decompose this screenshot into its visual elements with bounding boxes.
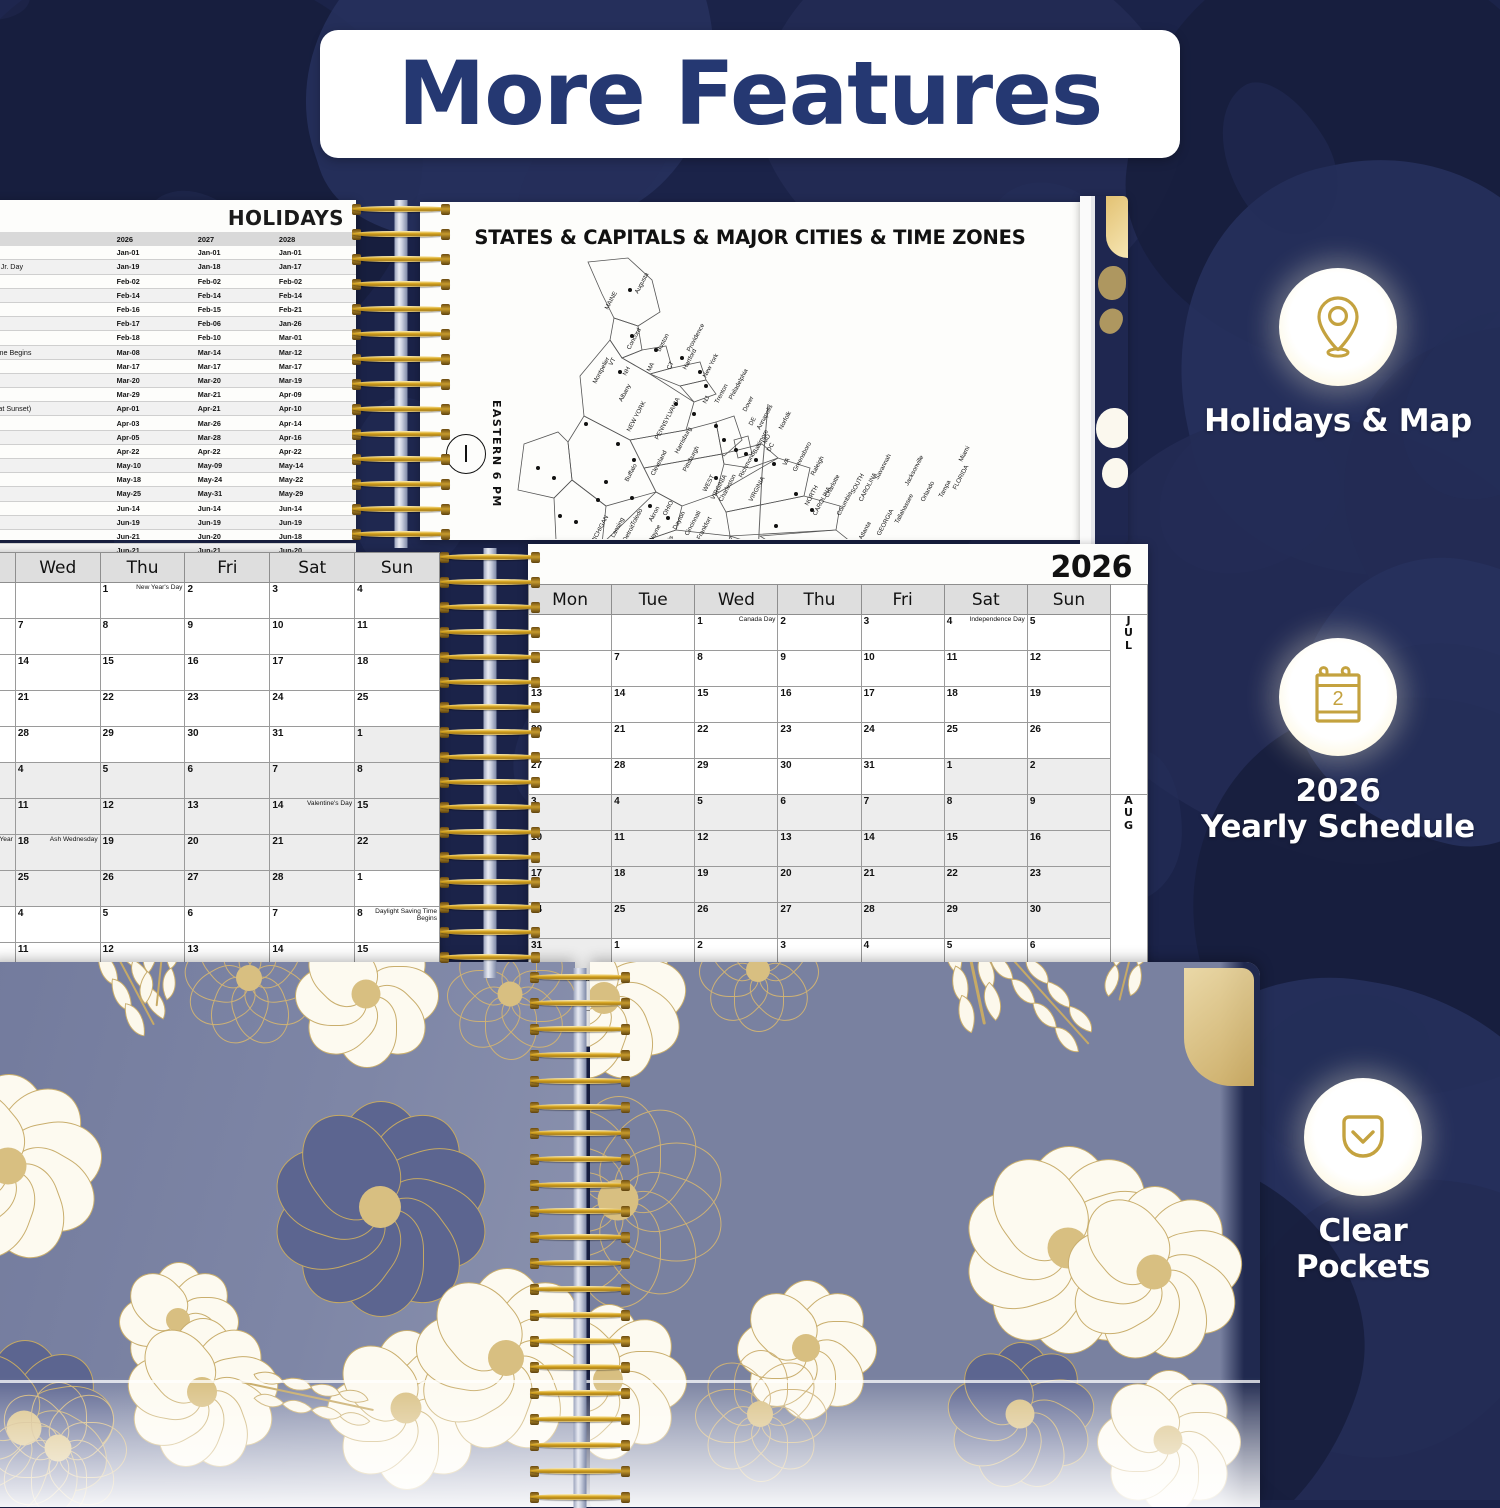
day-number: 11 <box>614 832 625 843</box>
calendar-day-cell[interactable]: 14 <box>861 831 944 867</box>
calendar-day-cell[interactable]: 6 <box>529 651 612 687</box>
calendar-day-cell[interactable]: 3 <box>529 795 612 831</box>
day-event-label: Independence Day <box>969 616 1024 623</box>
svg-text:Buffalo: Buffalo <box>624 462 639 483</box>
calendar-day-cell[interactable]: 5 <box>100 763 185 799</box>
calendar-day-cell[interactable]: 7 <box>861 795 944 831</box>
holiday-date: Apr-05 <box>113 430 194 444</box>
calendar-day-cell[interactable]: 24 <box>270 691 355 727</box>
calendar-day-cell[interactable]: 4 <box>355 583 440 619</box>
holiday-date: Mar-26 <box>194 416 275 430</box>
calendar-day-cell[interactable]: 4 <box>15 907 100 943</box>
cover-flower <box>1098 266 1126 300</box>
calendar-day-cell[interactable]: 12 <box>695 831 778 867</box>
month-tab-header <box>1111 585 1148 615</box>
calendar-day-cell[interactable]: 11 <box>612 831 695 867</box>
day-number: 15 <box>697 688 708 699</box>
calendar-day-cell[interactable]: 18 <box>355 655 440 691</box>
spiral-coil <box>530 1206 630 1217</box>
flower-center <box>1137 1255 1172 1290</box>
holiday-date: Jan-01 <box>275 246 356 260</box>
calendar-day-cell[interactable]: 21 <box>270 835 355 871</box>
calendar-day-cell[interactable] <box>0 799 15 835</box>
weekday-header-tue: Tue <box>0 553 15 583</box>
calendar-day-cell[interactable]: 25 <box>355 691 440 727</box>
calendar-day-cell[interactable]: 24 <box>529 903 612 939</box>
calendar-day-cell[interactable]: 29 <box>695 759 778 795</box>
calendar-day-cell[interactable]: 8 <box>100 619 185 655</box>
holiday-name: Groundhog Day <box>0 274 113 288</box>
day-number: 12 <box>1030 652 1041 663</box>
holiday-date: Feb-21 <box>275 302 356 316</box>
spiral-coil <box>530 1232 630 1243</box>
usa-east-map: MAINE Augusta VT NH Concord Montpelier A… <box>510 254 1070 539</box>
calendar-day-cell[interactable]: 8Daylight Saving Time Begins <box>355 907 440 943</box>
day-number: 6 <box>1030 940 1036 951</box>
calendar-day-cell[interactable]: 14Valentine's Day <box>270 799 355 835</box>
calendar-day-cell[interactable] <box>529 615 612 651</box>
calendar-day-cell[interactable]: 20 <box>185 835 270 871</box>
calendar-day-cell[interactable]: 29 <box>944 903 1027 939</box>
day-number: 6 <box>780 796 786 807</box>
svg-text:Dover: Dover <box>742 395 756 413</box>
svg-text:Albany: Albany <box>618 382 633 403</box>
day-number: 30 <box>780 760 791 771</box>
day-number: 22 <box>103 692 114 703</box>
day-number: 6 <box>187 908 193 919</box>
svg-text:NH: NH <box>622 366 632 377</box>
calendar-day-cell[interactable]: 27 <box>185 871 270 907</box>
cover-flower <box>195 962 303 1032</box>
day-number: 24 <box>864 724 875 735</box>
holidays-row: Mother's DayMay-10May-09May-14 <box>0 459 356 473</box>
day-number: 4 <box>18 764 24 775</box>
day-number: 11 <box>947 652 958 663</box>
holiday-date: May-25 <box>113 487 194 501</box>
holiday-name: Chinese New Year <box>0 317 113 331</box>
svg-text:PENNSYLVANIA: PENNSYLVANIA <box>654 396 682 441</box>
day-event-label: Daylight Saving Time Begins <box>375 908 437 923</box>
calendar-day-cell[interactable]: 3 <box>861 615 944 651</box>
calendar-day-cell[interactable]: 4 <box>612 795 695 831</box>
day-number: 20 <box>187 836 198 847</box>
calendar-day-cell[interactable]: 17 <box>270 655 355 691</box>
cover-flower <box>1102 458 1128 488</box>
calendar-day-cell[interactable]: 15 <box>355 799 440 835</box>
calendar-day-cell[interactable]: 30 <box>778 759 861 795</box>
cover-right-panel <box>590 962 1260 1507</box>
calendar-day-cell[interactable]: 2 <box>185 583 270 619</box>
svg-text:Savannah: Savannah <box>874 453 894 481</box>
holiday-date: May-29 <box>275 487 356 501</box>
feature-label: Clear Pockets <box>1232 1214 1494 1286</box>
calendar-day-cell[interactable]: 10 <box>529 831 612 867</box>
spiral-coil <box>352 379 450 390</box>
calendar-day-cell[interactable]: 17 <box>861 687 944 723</box>
calendar-day-cell[interactable]: 15 <box>695 687 778 723</box>
day-number: 28 <box>864 904 875 915</box>
day-number: 14 <box>864 832 875 843</box>
spiral-coil <box>440 727 540 738</box>
cover-flower <box>708 1362 812 1466</box>
svg-text:Raleigh: Raleigh <box>810 455 826 477</box>
map-title: STATES & CAPITALS & MAJOR CITIES & TIME … <box>420 202 1080 249</box>
calendar-day-cell[interactable]: 22 <box>944 867 1027 903</box>
day-number: 23 <box>1030 868 1041 879</box>
calendar-day-cell[interactable]: Chinese New Year <box>0 835 15 871</box>
calendar-day-cell[interactable]: 15 <box>944 831 1027 867</box>
day-number: 25 <box>614 904 625 915</box>
calendar-day-cell[interactable]: 25 <box>944 723 1027 759</box>
day-number: 10 <box>272 620 283 631</box>
flower-center <box>488 1340 524 1376</box>
calendar-day-cell[interactable]: 9 <box>1027 795 1110 831</box>
calendar-day-cell[interactable] <box>0 763 15 799</box>
holiday-name: Palm Sunday <box>0 388 113 402</box>
leaf <box>1064 1005 1096 1032</box>
calendar-day-cell[interactable]: 23 <box>778 723 861 759</box>
flower-center <box>352 980 381 1009</box>
svg-text:New York: New York <box>702 352 721 379</box>
calendar-day-cell[interactable]: 7 <box>270 763 355 799</box>
day-number: 28 <box>18 728 29 739</box>
day-number: 11 <box>18 944 29 955</box>
calendar-day-cell[interactable]: 11 <box>355 619 440 655</box>
leaf <box>1042 981 1074 1008</box>
day-number: 27 <box>187 872 198 883</box>
holiday-date: May-31 <box>194 487 275 501</box>
calendar-day-cell[interactable]: 6 <box>778 795 861 831</box>
calendar-year: 2026 <box>1051 550 1133 585</box>
day-number: 16 <box>1030 832 1041 843</box>
day-number: 23 <box>187 692 198 703</box>
calendar-day-cell[interactable]: 21 <box>15 691 100 727</box>
calendar-day-cell[interactable]: 2 <box>778 615 861 651</box>
day-number: 2 <box>697 940 703 951</box>
calendar-icon-number: 2 <box>1332 688 1343 710</box>
calendar-day-cell[interactable]: 6 <box>185 907 270 943</box>
calendar-day-cell[interactable]: 23 <box>1027 867 1110 903</box>
svg-text:Tampa: Tampa <box>938 479 953 499</box>
calendar-day-cell[interactable]: 1 <box>355 871 440 907</box>
calendar-day-cell[interactable]: 8 <box>355 763 440 799</box>
day-event-label: Ash Wednesday <box>50 836 98 843</box>
day-number: 26 <box>697 904 708 915</box>
holiday-date: Feb-06 <box>194 317 275 331</box>
calendar-icon: 2 <box>1305 663 1371 731</box>
calendar-day-cell[interactable]: 21 <box>612 723 695 759</box>
day-number: 8 <box>697 652 703 663</box>
cover-flower <box>1096 408 1128 448</box>
calendar-day-cell[interactable]: 13 <box>778 831 861 867</box>
calendar-week-row: 1415161718 <box>0 655 440 691</box>
day-event-label: Valentine's Day <box>307 800 352 807</box>
calendar-day-cell[interactable]: 31 <box>270 727 355 763</box>
day-number: 11 <box>357 620 368 631</box>
calendar-day-cell[interactable]: 16 <box>185 655 270 691</box>
calendar-day-cell[interactable]: 28 <box>612 759 695 795</box>
holiday-date: Mar-29 <box>113 388 194 402</box>
calendar-day-cell[interactable]: 9 <box>185 619 270 655</box>
calendar-day-cell[interactable]: 11 <box>944 651 1027 687</box>
cover-flower <box>710 962 806 1018</box>
day-number: 2 <box>187 584 193 595</box>
calendar-day-cell[interactable]: 1 <box>355 727 440 763</box>
calendar-day-cell[interactable]: 7 <box>612 651 695 687</box>
spiral-coil <box>530 1024 630 1035</box>
calendar-day-cell[interactable]: 7 <box>270 907 355 943</box>
calendar-week-row: 45678 <box>0 763 440 799</box>
cover-left-panel <box>0 962 575 1507</box>
day-number: 7 <box>18 620 24 631</box>
calendar-day-cell[interactable] <box>612 615 695 651</box>
calendar-day-cell[interactable]: 10 <box>270 619 355 655</box>
day-number: 9 <box>780 652 786 663</box>
calendar-day-cell[interactable] <box>0 907 15 943</box>
calendar-day-cell[interactable]: 28 <box>15 727 100 763</box>
spiral-coil <box>440 827 540 838</box>
holidays-col-2027: 2027 <box>194 232 275 246</box>
calendar-day-cell[interactable]: 22 <box>355 835 440 871</box>
calendar-day-cell[interactable]: 2 <box>1027 759 1110 795</box>
calendar-day-cell[interactable]: 18 <box>944 687 1027 723</box>
spiral-coil <box>352 429 450 440</box>
spiral-coil <box>440 627 540 638</box>
holiday-date: Jun-19 <box>275 515 356 529</box>
calendar-day-cell[interactable]: 28 <box>861 903 944 939</box>
svg-text:OHIO: OHIO <box>662 500 676 517</box>
holiday-date: Mar-20 <box>194 373 275 387</box>
holidays-row: Palm SundayMar-29Mar-21Apr-09 <box>0 388 356 402</box>
calendar-day-cell[interactable]: 26 <box>1027 723 1110 759</box>
calendar-day-cell[interactable]: 1Canada Day <box>695 615 778 651</box>
calendar-day-cell[interactable]: 16 <box>778 687 861 723</box>
calendar-day-cell[interactable]: 11 <box>15 799 100 835</box>
svg-text:Augusta: Augusta <box>634 271 651 295</box>
calendar-day-cell[interactable]: 18 <box>612 867 695 903</box>
svg-text:Columbia: Columbia <box>836 490 855 517</box>
day-number: 25 <box>947 724 958 735</box>
feature-label-line1: 2026 <box>1295 773 1380 809</box>
calendar-day-cell[interactable]: 30 <box>1027 903 1110 939</box>
day-number: 15 <box>103 656 114 667</box>
calendar-day-cell[interactable] <box>15 583 100 619</box>
month-tab-label: JUL <box>1111 615 1147 652</box>
spiral-coil <box>530 1180 630 1191</box>
holiday-date: Apr-22 <box>113 444 194 458</box>
calendar-day-cell[interactable]: 30 <box>185 727 270 763</box>
day-number: 19 <box>697 868 708 879</box>
calendar-day-cell[interactable]: 25 <box>15 871 100 907</box>
spiral-coil <box>440 902 540 913</box>
calendar-day-cell[interactable]: 16 <box>1027 831 1110 867</box>
holiday-date: May-22 <box>275 473 356 487</box>
calendar-day-cell[interactable]: 22 <box>100 691 185 727</box>
planner-back-cover <box>1080 196 1128 544</box>
calendar-day-cell[interactable] <box>0 583 15 619</box>
holiday-date: Mar-12 <box>275 345 356 359</box>
flower-center <box>792 1334 820 1362</box>
day-number: 22 <box>947 868 958 879</box>
spiral-coil <box>440 952 540 963</box>
day-number: 4 <box>947 616 953 627</box>
calendar-day-cell[interactable]: 5 <box>1027 615 1110 651</box>
calendar-day-cell[interactable]: 8 <box>695 651 778 687</box>
map-svg: MAINE Augusta VT NH Concord Montpelier A… <box>510 254 1070 539</box>
feature-clear-pockets: Clear Pockets <box>1232 1078 1494 1286</box>
calendar-day-cell[interactable]: 4 <box>15 763 100 799</box>
calendar-day-cell[interactable]: 8 <box>944 795 1027 831</box>
holiday-date: Mar-17 <box>194 359 275 373</box>
day-number: 15 <box>947 832 958 843</box>
calendar-day-cell[interactable]: 14 <box>15 655 100 691</box>
calendar-day-cell[interactable]: 20 <box>529 723 612 759</box>
calendar-day-cell[interactable]: 24 <box>861 723 944 759</box>
spiral-coil <box>440 652 540 663</box>
feature-badge <box>1279 268 1397 386</box>
calendar-day-cell[interactable] <box>0 727 15 763</box>
holiday-date: May-18 <box>113 473 194 487</box>
calendar-day-cell[interactable]: 6 <box>185 763 270 799</box>
svg-text:Atlanta: Atlanta <box>858 520 873 539</box>
calendar-day-cell[interactable]: 31 <box>861 759 944 795</box>
holiday-date: Feb-14 <box>275 288 356 302</box>
calendar-day-cell[interactable]: 10 <box>861 651 944 687</box>
pocket-icon <box>1330 1104 1396 1170</box>
calendar-day-cell[interactable]: 5 <box>695 795 778 831</box>
holidays-row: Easter SundayApr-05Mar-28Apr-16 <box>0 430 356 444</box>
spiral-coil <box>352 329 450 340</box>
gold-corner-accent <box>1184 968 1254 1086</box>
day-number: 3 <box>864 616 870 627</box>
calendar-day-cell[interactable]: 23 <box>185 691 270 727</box>
calendar-day-cell[interactable]: 26 <box>100 871 185 907</box>
calendar-day-cell[interactable]: 29 <box>100 727 185 763</box>
calendar-day-cell[interactable]: 1 <box>944 759 1027 795</box>
day-number: 12 <box>103 944 114 955</box>
holidays-heading: HOLIDAYS <box>0 200 356 232</box>
weekday-header-wed: Wed <box>15 553 100 583</box>
spiral-coil <box>440 927 540 938</box>
holiday-date: Jun-14 <box>275 501 356 515</box>
holiday-date: Jun-19 <box>194 515 275 529</box>
day-number: 4 <box>357 584 363 595</box>
calendar-week-row: 6789101112 <box>529 651 1148 687</box>
spiral-coil <box>530 1154 630 1165</box>
holiday-date: Jun-21 <box>113 529 194 543</box>
holiday-date: May-14 <box>275 459 356 473</box>
calendar-day-cell[interactable]: 13 <box>529 687 612 723</box>
calendar-day-cell[interactable]: 5 <box>100 907 185 943</box>
holidays-row: JuneteenthJun-19Jun-19Jun-19 <box>0 515 356 529</box>
map-page: STATES & CAPITALS & MAJOR CITIES & TIME … <box>420 202 1080 540</box>
calendar-day-cell[interactable]: 4Independence Day <box>944 615 1027 651</box>
day-number: 29 <box>103 728 114 739</box>
day-event-label: New Year's Day <box>136 584 182 591</box>
holiday-name: Earth Day <box>0 444 113 458</box>
holiday-name: Ash Wednesday <box>0 331 113 345</box>
feature-holidays-map: Holidays & Map <box>1178 268 1498 440</box>
svg-text:MAINE: MAINE <box>604 290 619 311</box>
holiday-date: Jun-20 <box>194 529 275 543</box>
calendar-day-cell[interactable]: 27 <box>778 903 861 939</box>
calendar-day-cell[interactable]: 25 <box>612 903 695 939</box>
spiral-coil <box>530 1076 630 1087</box>
spiral-coil <box>530 1128 630 1139</box>
day-number: 25 <box>18 872 29 883</box>
svg-text:Dayton: Dayton <box>672 510 688 531</box>
holiday-date: Jan-01 <box>194 246 275 260</box>
svg-text:Jacksonville: Jacksonville <box>904 454 926 487</box>
calendar-day-cell[interactable] <box>0 871 15 907</box>
spiral-coil <box>530 1440 630 1451</box>
calendar-day-cell[interactable]: 27 <box>529 759 612 795</box>
calendar-day-cell[interactable]: 9 <box>778 651 861 687</box>
calendar-day-cell[interactable]: 1New Year's Day <box>100 583 185 619</box>
holiday-name: Valentine's Day <box>0 288 113 302</box>
calendar-day-cell[interactable]: 12 <box>100 799 185 835</box>
calendar-day-cell[interactable]: 19 <box>695 867 778 903</box>
month-tab-jul[interactable]: JUL <box>1111 615 1148 795</box>
holiday-date: Feb-02 <box>275 274 356 288</box>
holiday-name: Good Friday <box>0 416 113 430</box>
spiral-coil <box>352 204 450 215</box>
calendar-day-cell[interactable] <box>0 619 15 655</box>
feature-badge: 2 <box>1279 638 1397 756</box>
flower-center <box>1154 1426 1183 1455</box>
svg-text:NEW YORK: NEW YORK <box>626 399 648 433</box>
day-number: 21 <box>864 868 875 879</box>
calendar-day-cell[interactable]: 15 <box>100 655 185 691</box>
header-banner: More Features <box>320 30 1180 158</box>
calendar-day-cell[interactable]: 18Ash Wednesday <box>15 835 100 871</box>
calendar-day-cell[interactable]: 26 <box>695 903 778 939</box>
calendar-day-cell[interactable]: 3 <box>270 583 355 619</box>
calendar-day-cell[interactable]: 17 <box>529 867 612 903</box>
month-tab-aug[interactable]: AUG <box>1111 795 1148 975</box>
holiday-date: Feb-16 <box>113 302 194 316</box>
calendar-day-cell[interactable]: 19 <box>1027 687 1110 723</box>
calendar-day-cell[interactable]: 7 <box>15 619 100 655</box>
day-number: 25 <box>357 692 368 703</box>
day-number: 8 <box>947 796 953 807</box>
holiday-date: Apr-21 <box>194 402 275 416</box>
calendar-week-row: 272829303112 <box>529 759 1148 795</box>
calendar-day-cell[interactable]: 19 <box>100 835 185 871</box>
weekday-header-wed: Wed <box>695 585 778 615</box>
calendar-day-cell[interactable]: 21 <box>861 867 944 903</box>
holiday-date: Feb-14 <box>113 288 194 302</box>
holiday-date: Feb-18 <box>113 331 194 345</box>
calendar-day-cell[interactable] <box>0 655 15 691</box>
calendar-day-cell[interactable]: 20 <box>778 867 861 903</box>
calendar-day-cell[interactable]: 12 <box>1027 651 1110 687</box>
holiday-date: Mar-19 <box>275 373 356 387</box>
holidays-row: Daylight Saving Time BeginsMar-08Mar-14M… <box>0 345 356 359</box>
holidays-row: New Year's DayJan-01Jan-01Jan-01 <box>0 246 356 260</box>
calendar-day-cell[interactable]: 14 <box>612 687 695 723</box>
holiday-date: Feb-14 <box>194 288 275 302</box>
calendar-day-cell[interactable]: 13 <box>185 799 270 835</box>
holiday-date: Jun-14 <box>113 501 194 515</box>
calendar-day-cell[interactable]: 28 <box>270 871 355 907</box>
calendar-day-cell[interactable]: 22 <box>695 723 778 759</box>
calendar-week-row: 20212223242526 <box>529 723 1148 759</box>
day-number: 4 <box>864 940 870 951</box>
calendar-day-cell[interactable] <box>0 691 15 727</box>
weekday-header-thu: Thu <box>778 585 861 615</box>
spiral-coil <box>352 404 450 415</box>
